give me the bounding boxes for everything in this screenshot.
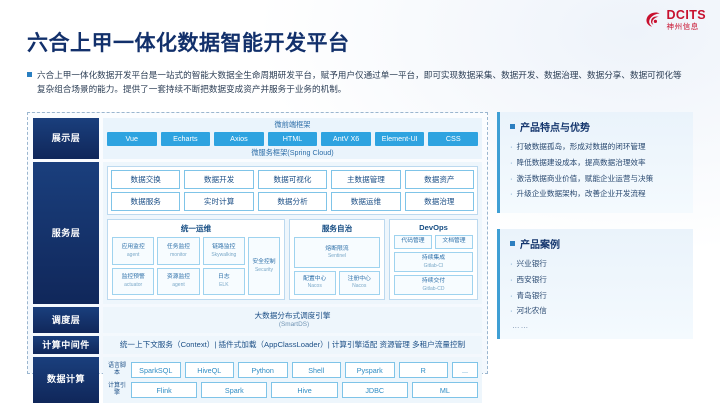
service-body: 数据交换 数据开发 数据可视化 主数据管理 数据资产 数据服务 实时计算 数据分…: [103, 162, 482, 304]
autonomy-tile-cn: 注册中心: [348, 276, 371, 284]
dcits-swirl-icon: [644, 10, 663, 29]
layer-compute: 数据计算 语言脚本 SparkSQL HiveQL Python Shell P…: [33, 357, 482, 403]
layer-label-compute: 数据计算: [33, 357, 99, 403]
advantage-item: · 打破数据孤岛，形成对数据的闭环管理: [510, 141, 683, 153]
card-title-cases: 产品案例: [510, 236, 683, 251]
microfrontend-caption: 微前端框架: [107, 120, 478, 130]
compute-language-row: 语言脚本 SparkSQL HiveQL Python Shell Pyspar…: [107, 362, 478, 378]
case-text: 河北农信: [517, 305, 547, 317]
service-function-cell[interactable]: 数据分析: [258, 192, 327, 211]
compute-engine-row: 计算引擎 Flink Spark Hive JDBC ML: [107, 382, 478, 398]
tech-chip[interactable]: Axios: [214, 132, 264, 146]
service-function-cell[interactable]: 数据开发: [184, 170, 253, 189]
ops-tile[interactable]: 链路监控 Skywalking: [203, 237, 245, 264]
devops-tile-en: Gitlab-CI: [424, 263, 444, 270]
ops-tile-cn: 日志: [218, 274, 230, 282]
page-title: 六合上甲一体化数据智能开发平台: [27, 27, 350, 57]
ops-tile-cn: 链路监控: [212, 244, 235, 252]
ops-tile-en: agent: [127, 252, 140, 259]
compute-language-cell[interactable]: R: [399, 362, 449, 378]
devops-tile-cn: 文档管理: [442, 238, 465, 246]
dot-bullet-icon: ·: [510, 173, 513, 185]
dot-bullet-icon: ·: [510, 258, 513, 270]
architecture-diagram: 展示层 微前端框架 Vue Echarts Axios HTML AntV X6…: [27, 112, 488, 374]
schedule-engine-text: 大数据分布式调度引擎: [255, 311, 331, 321]
square-bullet-icon: [510, 241, 515, 246]
case-text: 西安银行: [517, 274, 547, 286]
compute-engine-tag: 计算引擎: [107, 383, 127, 397]
autonomy-tiles: 熔断限流 Sentinel 配置中心 Nacos 注册中心: [294, 237, 380, 295]
card-advantages: 产品特点与优势 · 打破数据孤岛，形成对数据的闭环管理 · 降低数据建设成本，提…: [497, 112, 693, 213]
layer-middleware: 计算中间件 统一上下文服务（Context）| 插件式加载（AppClassLo…: [33, 336, 482, 354]
compute-language-cell[interactable]: Python: [238, 362, 288, 378]
dot-bullet-icon: ·: [510, 305, 513, 317]
devops-tile-docs[interactable]: 文档管理: [435, 235, 473, 249]
case-text: 兴业银行: [517, 258, 547, 270]
ops-tile-cn: 任务监控: [167, 244, 190, 252]
ops-tile-grid: 应用监控 agent 监控预警 actuator: [112, 237, 280, 295]
service-function-cell[interactable]: 实时计算: [184, 192, 253, 211]
cases-ellipsis: ……: [510, 321, 683, 330]
middleware-body: 统一上下文服务（Context）| 插件式加载（AppClassLoader）|…: [103, 336, 482, 354]
compute-engine-cell[interactable]: ML: [412, 382, 478, 398]
tech-chip[interactable]: CSS: [428, 132, 478, 146]
compute-engine-cell[interactable]: Hive: [271, 382, 337, 398]
devops-top-row: 代码管理 文档管理: [394, 235, 473, 249]
devops-tile-cn: 持续集成: [422, 255, 445, 263]
service-support-panels: 统一运维 应用监控 agent 监控预警 actuator: [107, 219, 478, 300]
service-function-matrix: 数据交换 数据开发 数据可视化 主数据管理 数据资产 数据服务 实时计算 数据分…: [107, 166, 478, 215]
advantage-text: 激活数据商业价值，赋能企业运营与决策: [517, 173, 654, 185]
ops-tile[interactable]: 监控预警 actuator: [112, 268, 154, 295]
autonomy-tile-config-center[interactable]: 配置中心 Nacos: [294, 271, 336, 295]
service-function-cell[interactable]: 主数据管理: [331, 170, 400, 189]
tech-chip[interactable]: Element-UI: [375, 132, 425, 146]
advantage-item: · 升级企业数据架构，改善企业开发流程: [510, 188, 683, 200]
devops-tile-cn: 代码管理: [401, 238, 424, 246]
service-function-cell[interactable]: 数据治理: [405, 192, 474, 211]
devops-tiles: 代码管理 文档管理 持续集成 Gitlab-CI: [394, 235, 473, 295]
case-item: · 兴业银行: [510, 258, 683, 270]
service-function-cell[interactable]: 数据运维: [331, 192, 400, 211]
compute-engine-cell[interactable]: JDBC: [342, 382, 408, 398]
ops-tile-column: 任务监控 monitor 资源监控 agent: [157, 237, 199, 295]
autonomy-bottom-row: 配置中心 Nacos 注册中心 Nacos: [294, 271, 380, 295]
autonomy-tile-cn: 熔断限流: [325, 246, 348, 254]
ops-tile-column: 链路监控 Skywalking 日志 ELK: [203, 237, 245, 295]
advantage-text: 打破数据孤岛，形成对数据的闭环管理: [517, 141, 646, 153]
intro-text: 六合上甲一体化数据开发平台是一站式的智能大数据全生命周期研发平台，赋予用户仅通过…: [37, 68, 687, 96]
case-item: · 河北农信: [510, 305, 683, 317]
autonomy-tile-en: Nacos: [308, 283, 322, 290]
ops-security-cn: 安全控制: [252, 259, 275, 267]
ops-tile-cn: 应用监控: [122, 244, 145, 252]
compute-engine-cell[interactable]: Spark: [201, 382, 267, 398]
service-function-row: 数据交换 数据开发 数据可视化 主数据管理 数据资产: [111, 170, 474, 189]
presentation-body: 微前端框架 Vue Echarts Axios HTML AntV X6 Ele…: [103, 118, 482, 159]
ops-tile-en: Skywalking: [211, 252, 236, 259]
panel-service-autonomy: 服务自治 熔断限流 Sentinel 配置中心 Nacos: [289, 219, 385, 300]
ops-tile-en: agent: [172, 282, 185, 289]
layer-service: 服务层 数据交换 数据开发 数据可视化 主数据管理 数据资产 数据服务 实时计算: [33, 162, 482, 304]
devops-tile-ci[interactable]: 持续集成 Gitlab-CI: [394, 252, 473, 272]
schedule-engine-sub: (SmartDS): [279, 321, 309, 329]
compute-language-tag: 语言脚本: [107, 363, 127, 377]
ops-tile-en: actuator: [124, 282, 142, 289]
devops-tile-cd[interactable]: 持续交付 Gitlab-CD: [394, 275, 473, 295]
logo-text-cn: 神州信息: [667, 23, 707, 31]
devops-tile-en: Gitlab-CD: [423, 286, 445, 293]
compute-body: 语言脚本 SparkSQL HiveQL Python Shell Pyspar…: [103, 357, 482, 403]
compute-language-cell[interactable]: Shell: [292, 362, 342, 378]
compute-language-cell[interactable]: SparkSQL: [131, 362, 181, 378]
case-text: 青岛银行: [517, 290, 547, 302]
devops-tile-code[interactable]: 代码管理: [394, 235, 432, 249]
compute-engine-cell[interactable]: Flink: [131, 382, 197, 398]
ops-tile-en: ELK: [219, 282, 228, 289]
frontend-tech-chips: Vue Echarts Axios HTML AntV X6 Element-U…: [107, 132, 478, 146]
panel-unified-ops: 统一运维 应用监控 agent 监控预警 actuator: [107, 219, 285, 300]
service-function-cell[interactable]: 数据资产: [405, 170, 474, 189]
tech-chip[interactable]: Echarts: [161, 132, 211, 146]
cases-title-text: 产品案例: [520, 236, 560, 251]
ops-tile[interactable]: 任务监控 monitor: [157, 237, 199, 264]
dot-bullet-icon: ·: [510, 188, 513, 200]
panel-title-autonomy: 服务自治: [294, 223, 380, 234]
layer-label-service: 服务层: [33, 162, 99, 304]
middleware-text: 统一上下文服务（Context）| 插件式加载（AppClassLoader）|…: [120, 340, 465, 350]
autonomy-tile-registry-center[interactable]: 注册中心 Nacos: [339, 271, 381, 295]
layer-schedule: 调度层 大数据分布式调度引擎 (SmartDS): [33, 307, 482, 333]
advantage-item: · 激活数据商业价值，赋能企业运营与决策: [510, 173, 683, 185]
square-bullet-icon: [27, 72, 32, 77]
ops-tile[interactable]: 日志 ELK: [203, 268, 245, 295]
autonomy-tile-en: Sentinel: [328, 253, 346, 260]
brand-logo: DCITS 神州信息: [644, 9, 707, 30]
layer-presentation: 展示层 微前端框架 Vue Echarts Axios HTML AntV X6…: [33, 118, 482, 159]
tech-chip[interactable]: AntV X6: [321, 132, 371, 146]
service-function-cell[interactable]: 数据服务: [111, 192, 180, 211]
dot-bullet-icon: ·: [510, 141, 513, 153]
ops-security-en: Security: [255, 267, 273, 274]
panel-devops: DevOps 代码管理 文档管理: [389, 219, 478, 300]
layer-label-presentation: 展示层: [33, 118, 99, 159]
ops-tile-cn: 资源监控: [167, 274, 190, 282]
dot-bullet-icon: ·: [510, 290, 513, 302]
service-function-cell[interactable]: 数据可视化: [258, 170, 327, 189]
layer-label-middleware: 计算中间件: [33, 336, 99, 354]
ops-tile[interactable]: 应用监控 agent: [112, 237, 154, 264]
ops-security-tile[interactable]: 安全控制 Security: [248, 237, 280, 295]
ops-tile-en: monitor: [170, 252, 187, 259]
tech-chip[interactable]: HTML: [268, 132, 318, 146]
schedule-body: 大数据分布式调度引擎 (SmartDS): [103, 307, 482, 333]
card-title-advantages: 产品特点与优势: [510, 119, 683, 134]
logo-text-en: DCITS: [667, 9, 707, 22]
autonomy-tile-cn: 配置中心: [303, 276, 326, 284]
ops-tile-cn: 监控预警: [122, 274, 145, 282]
ops-tile-column: 应用监控 agent 监控预警 actuator: [112, 237, 154, 295]
panel-title-devops: DevOps: [394, 223, 473, 232]
ops-tile[interactable]: 资源监控 agent: [157, 268, 199, 295]
service-function-row: 数据服务 实时计算 数据分析 数据运维 数据治理: [111, 192, 474, 211]
dot-bullet-icon: ·: [510, 274, 513, 286]
dot-bullet-icon: ·: [510, 157, 513, 169]
autonomy-tile-circuit-breaker[interactable]: 熔断限流 Sentinel: [294, 237, 380, 267]
layer-label-schedule: 调度层: [33, 307, 99, 333]
card-cases: 产品案例 · 兴业银行 · 西安银行 · 青岛银行 · 河北农信 ……: [497, 229, 693, 339]
compute-language-cell[interactable]: Pyspark: [345, 362, 395, 378]
square-bullet-icon: [510, 124, 515, 129]
microservice-caption: 微服务框架(Spring Cloud): [107, 148, 478, 158]
advantage-item: · 降低数据建设成本，提高数据治理效率: [510, 157, 683, 169]
autonomy-tile-en: Nacos: [352, 283, 366, 290]
panel-title-unified-ops: 统一运维: [112, 223, 280, 234]
service-function-cell[interactable]: 数据交换: [111, 170, 180, 189]
advantages-title-text: 产品特点与优势: [520, 119, 590, 134]
devops-tile-cn: 持续交付: [422, 278, 445, 286]
intro-paragraph: 六合上甲一体化数据开发平台是一站式的智能大数据全生命周期研发平台，赋予用户仅通过…: [27, 68, 687, 96]
compute-language-cell[interactable]: HiveQL: [185, 362, 235, 378]
advantage-text: 升级企业数据架构，改善企业开发流程: [517, 188, 646, 200]
tech-chip[interactable]: Vue: [107, 132, 157, 146]
compute-language-more[interactable]: ...: [452, 362, 478, 378]
case-item: · 青岛银行: [510, 290, 683, 302]
ops-security-column: 安全控制 Security: [248, 237, 280, 295]
case-item: · 西安银行: [510, 274, 683, 286]
slide-root: DCITS 神州信息 六合上甲一体化数据智能开发平台 六合上甲一体化数据开发平台…: [0, 0, 720, 405]
advantage-text: 降低数据建设成本，提高数据治理效率: [517, 157, 646, 169]
